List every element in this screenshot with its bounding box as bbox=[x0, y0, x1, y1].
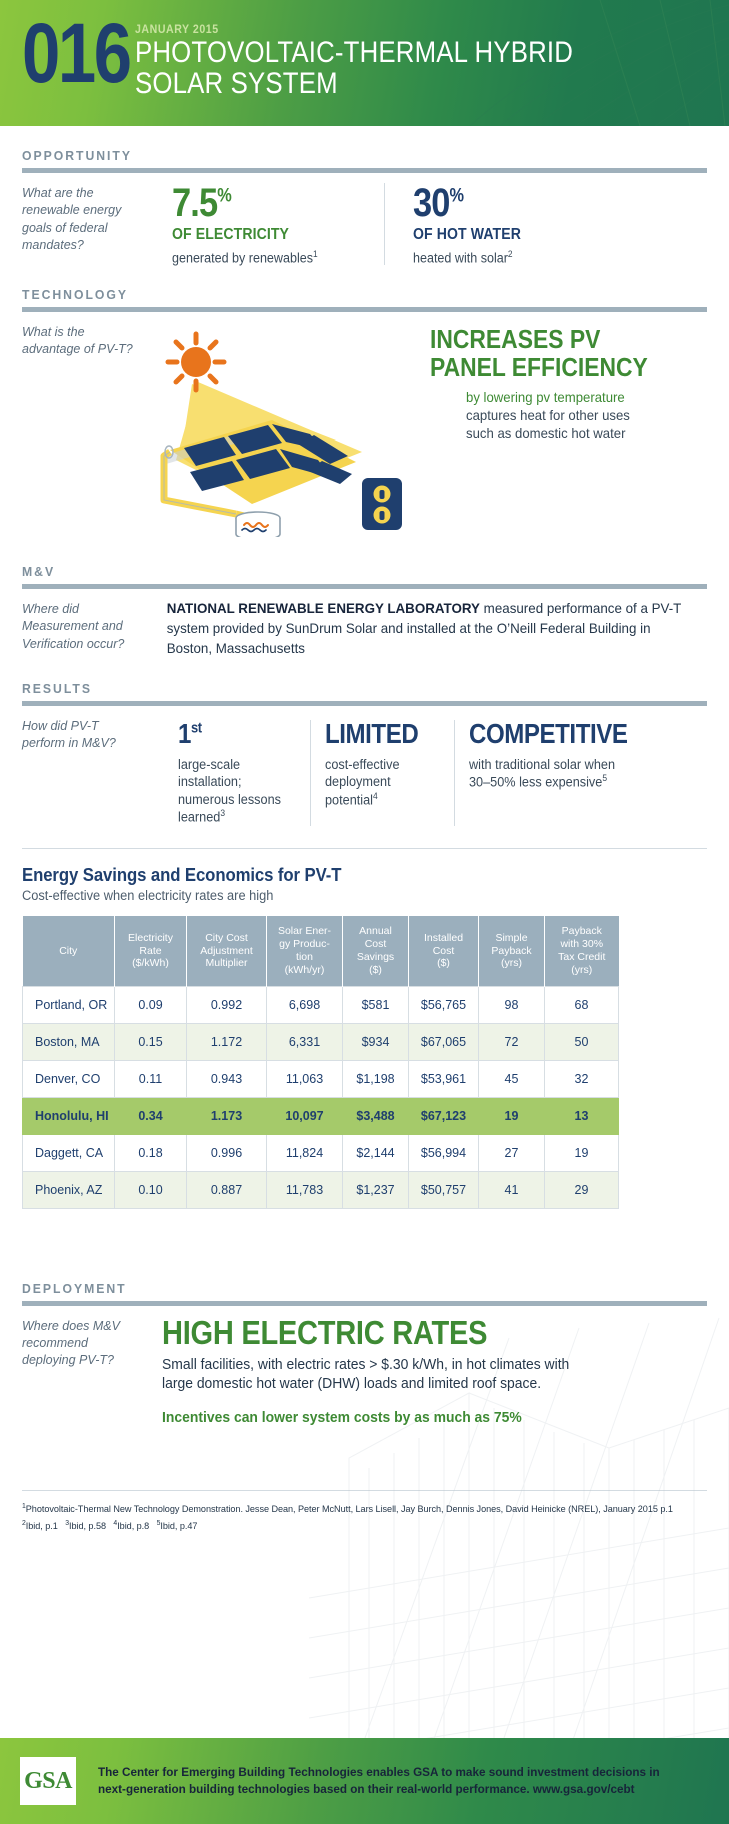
cell-savings: $581 bbox=[343, 986, 409, 1023]
cell-installed: $67,123 bbox=[409, 1097, 479, 1134]
cell-multiplier: 0.992 bbox=[187, 986, 267, 1023]
page-footer: GSA The Center for Emerging Building Tec… bbox=[0, 1738, 729, 1824]
deployment-incentives: Incentives can lower system costs by as … bbox=[162, 1410, 685, 1426]
table-row: Phoenix, AZ 0.10 0.887 11,783 $1,237 $50… bbox=[23, 1171, 619, 1208]
cell-production: 11,063 bbox=[267, 1060, 343, 1097]
footnotes: 1Photovoltaic-Thermal New Technology Dem… bbox=[22, 1501, 693, 1535]
section-rule bbox=[22, 307, 707, 312]
opportunity-question: What are the renewable energy goals of f… bbox=[22, 183, 140, 265]
cell-savings: $934 bbox=[343, 1023, 409, 1060]
cell-payback-tax: 29 bbox=[545, 1171, 619, 1208]
opportunity-block: What are the renewable energy goals of f… bbox=[22, 183, 707, 265]
stat-hot-water: 30% OF HOT WATER heated with solar2 bbox=[384, 183, 598, 265]
mv-question: Where did Measurement and Verification o… bbox=[22, 599, 140, 659]
cell-payback: 41 bbox=[479, 1171, 545, 1208]
section-label-deployment: DEPLOYMENT bbox=[22, 1281, 666, 1296]
footnote-1-cont: 2015 p.1 bbox=[638, 1504, 673, 1514]
technology-question: What is the advantage of PV-T? bbox=[22, 322, 140, 542]
section-label-results: RESULTS bbox=[22, 681, 666, 696]
stat-electricity: 7.5% OF ELECTRICITY generated by renewab… bbox=[162, 183, 376, 265]
result-sub: with traditional solar when 30–50% less … bbox=[469, 756, 680, 792]
technology-subtext: by lowering pv temperature captures heat… bbox=[466, 389, 693, 443]
footnote-3: Ibid, p.58 bbox=[69, 1521, 106, 1531]
mv-body: NATIONAL RENEWABLE ENERGY LABORATORY mea… bbox=[140, 599, 681, 659]
table-row-highlighted: Honolulu, HI 0.34 1.173 10,097 $3,488 $6… bbox=[23, 1097, 619, 1134]
section-label-opportunity: OPPORTUNITY bbox=[22, 148, 666, 163]
cell-production: 6,331 bbox=[267, 1023, 343, 1060]
cell-multiplier: 0.887 bbox=[187, 1171, 267, 1208]
sun-icon bbox=[181, 347, 211, 377]
mv-block: Where did Measurement and Verification o… bbox=[22, 599, 707, 659]
divider bbox=[22, 1490, 707, 1491]
col-installed: Installed Cost ($) bbox=[409, 916, 479, 986]
section-label-technology: TECHNOLOGY bbox=[22, 287, 666, 302]
results-question: How did PV-T perform in M&V? bbox=[22, 716, 140, 827]
col-production: Solar Ener- gy Produc- tion (kWh/yr) bbox=[267, 916, 343, 986]
technology-headline: INCREASES PV PANEL EFFICIENCY bbox=[430, 326, 674, 381]
col-city: City bbox=[23, 916, 115, 986]
cell-payback: 27 bbox=[479, 1134, 545, 1171]
cell-multiplier: 1.173 bbox=[187, 1097, 267, 1134]
stat-sub: heated with solar2 bbox=[413, 249, 585, 266]
opportunity-stats: 7.5% OF ELECTRICITY generated by renewab… bbox=[140, 183, 707, 265]
deployment-headline: HIGH ELECTRIC RATES bbox=[162, 1316, 642, 1349]
issue-number: 016 bbox=[22, 14, 130, 94]
table-header-row: City Electricity Rate ($/kWh) City Cost … bbox=[23, 916, 619, 986]
result-value: COMPETITIVE bbox=[469, 720, 662, 748]
cell-payback: 98 bbox=[479, 986, 545, 1023]
deployment-question: Where does M&V recommend deploying PV-T? bbox=[22, 1316, 140, 1426]
pvt-system-diagram bbox=[140, 322, 430, 537]
cell-city: Daggett, CA bbox=[23, 1134, 115, 1171]
cell-multiplier: 1.172 bbox=[187, 1023, 267, 1060]
cell-city: Phoenix, AZ bbox=[23, 1171, 115, 1208]
table-row: Denver, CO 0.11 0.943 11,063 $1,198 $53,… bbox=[23, 1060, 619, 1097]
result-sub: large-scale installation; numerous lesso… bbox=[178, 756, 289, 827]
cell-rate: 0.09 bbox=[115, 986, 187, 1023]
results-stats: 1st large-scale installation; numerous l… bbox=[140, 716, 707, 827]
hot-water-tank-icon bbox=[236, 512, 280, 537]
stat-value: 7.5% bbox=[172, 183, 347, 223]
gsa-logo-text: GSA bbox=[24, 1768, 72, 1795]
col-multiplier: City Cost Adjustment Multiplier bbox=[187, 916, 267, 986]
section-rule bbox=[22, 584, 707, 589]
technology-block: What is the advantage of PV-T? bbox=[22, 322, 707, 542]
infographic-page: 016 JANUARY 2015 PHOTOVOLTAIC-THERMAL HY… bbox=[0, 0, 729, 1824]
result-value: LIMITED bbox=[325, 720, 424, 748]
cell-city: Honolulu, HI bbox=[23, 1097, 115, 1134]
cell-installed: $56,765 bbox=[409, 986, 479, 1023]
cell-savings: $2,144 bbox=[343, 1134, 409, 1171]
cell-production: 11,783 bbox=[267, 1171, 343, 1208]
cell-production: 11,824 bbox=[267, 1134, 343, 1171]
cell-rate: 0.18 bbox=[115, 1134, 187, 1171]
issue-date: JANUARY 2015 bbox=[135, 24, 604, 36]
col-payback: Simple Payback (yrs) bbox=[479, 916, 545, 986]
page-header: 016 JANUARY 2015 PHOTOVOLTAIC-THERMAL HY… bbox=[0, 0, 729, 126]
table-subtitle: Cost-effective when electricity rates ar… bbox=[22, 888, 673, 903]
cell-production: 10,097 bbox=[267, 1097, 343, 1134]
table-row: Daggett, CA 0.18 0.996 11,824 $2,144 $56… bbox=[23, 1134, 619, 1171]
deployment-subtext: Small facilities, with electric rates > … bbox=[162, 1356, 685, 1395]
cell-city: Portland, OR bbox=[23, 986, 115, 1023]
results-block: How did PV-T perform in M&V? 1st large-s… bbox=[22, 716, 707, 827]
result-value: 1st bbox=[178, 720, 279, 748]
table-row: Boston, MA 0.15 1.172 6,331 $934 $67,065… bbox=[23, 1023, 619, 1060]
footer-text: The Center for Emerging Building Technol… bbox=[98, 1764, 660, 1798]
section-label-mv: M&V bbox=[22, 564, 666, 579]
cell-payback: 72 bbox=[479, 1023, 545, 1060]
table-title: Energy Savings and Economics for PV-T bbox=[22, 865, 659, 886]
page-body: OPPORTUNITY What are the renewable energ… bbox=[0, 148, 729, 1535]
result-item-limited: LIMITED cost-effective deployment potent… bbox=[310, 720, 454, 827]
cell-payback-tax: 50 bbox=[545, 1023, 619, 1060]
cell-rate: 0.10 bbox=[115, 1171, 187, 1208]
result-item-competitive: COMPETITIVE with traditional solar when … bbox=[454, 720, 707, 827]
cell-payback: 45 bbox=[479, 1060, 545, 1097]
cell-payback-tax: 19 bbox=[545, 1134, 619, 1171]
section-rule bbox=[22, 701, 707, 706]
stat-sub: generated by renewables1 bbox=[172, 249, 362, 266]
pvt-illustration bbox=[140, 322, 430, 542]
gsa-logo: GSA bbox=[20, 1757, 76, 1805]
cell-payback: 19 bbox=[479, 1097, 545, 1134]
cell-production: 6,698 bbox=[267, 986, 343, 1023]
page-title: PHOTOVOLTAIC-THERMAL HYBRID SOLAR SYSTEM bbox=[135, 38, 573, 99]
footnote-5: Ibid, p.47 bbox=[160, 1521, 197, 1531]
cell-installed: $53,961 bbox=[409, 1060, 479, 1097]
electrical-outlet-icon bbox=[362, 478, 402, 530]
cell-installed: $56,994 bbox=[409, 1134, 479, 1171]
table-body: Portland, OR 0.09 0.992 6,698 $581 $56,7… bbox=[23, 986, 619, 1208]
footnote-1: Photovoltaic-Thermal New Technology Demo… bbox=[26, 1504, 636, 1514]
section-rule bbox=[22, 168, 707, 173]
stat-label: OF HOT WATER bbox=[413, 226, 576, 244]
cell-multiplier: 0.996 bbox=[187, 1134, 267, 1171]
divider bbox=[22, 848, 707, 849]
table-row: Portland, OR 0.09 0.992 6,698 $581 $56,7… bbox=[23, 986, 619, 1023]
cell-savings: $1,237 bbox=[343, 1171, 409, 1208]
cell-payback-tax: 32 bbox=[545, 1060, 619, 1097]
cell-rate: 0.34 bbox=[115, 1097, 187, 1134]
cell-savings: $3,488 bbox=[343, 1097, 409, 1134]
col-savings: Annual Cost Savings ($) bbox=[343, 916, 409, 986]
cell-city: Denver, CO bbox=[23, 1060, 115, 1097]
mv-lead: NATIONAL RENEWABLE ENERGY LABORATORY bbox=[167, 600, 480, 616]
energy-savings-table: City Electricity Rate ($/kWh) City Cost … bbox=[22, 916, 619, 1208]
result-item-first: 1st large-scale installation; numerous l… bbox=[164, 720, 310, 827]
col-rate: Electricity Rate ($/kWh) bbox=[115, 916, 187, 986]
cell-savings: $1,198 bbox=[343, 1060, 409, 1097]
cell-city: Boston, MA bbox=[23, 1023, 115, 1060]
deployment-block: Where does M&V recommend deploying PV-T?… bbox=[22, 1316, 707, 1426]
footnote-2: Ibid, p.1 bbox=[26, 1521, 58, 1531]
cell-installed: $50,757 bbox=[409, 1171, 479, 1208]
cell-rate: 0.11 bbox=[115, 1060, 187, 1097]
cell-payback-tax: 13 bbox=[545, 1097, 619, 1134]
cell-rate: 0.15 bbox=[115, 1023, 187, 1060]
footnote-4: Ibid, p.8 bbox=[117, 1521, 149, 1531]
cell-payback-tax: 68 bbox=[545, 986, 619, 1023]
cell-installed: $67,065 bbox=[409, 1023, 479, 1060]
stat-label: OF ELECTRICITY bbox=[172, 226, 352, 244]
section-rule bbox=[22, 1301, 707, 1306]
stat-value: 30% bbox=[413, 183, 572, 223]
cell-multiplier: 0.943 bbox=[187, 1060, 267, 1097]
result-sub: cost-effective deployment potential4 bbox=[325, 756, 433, 809]
col-payback-tax: Payback with 30% Tax Credit (yrs) bbox=[545, 916, 619, 986]
